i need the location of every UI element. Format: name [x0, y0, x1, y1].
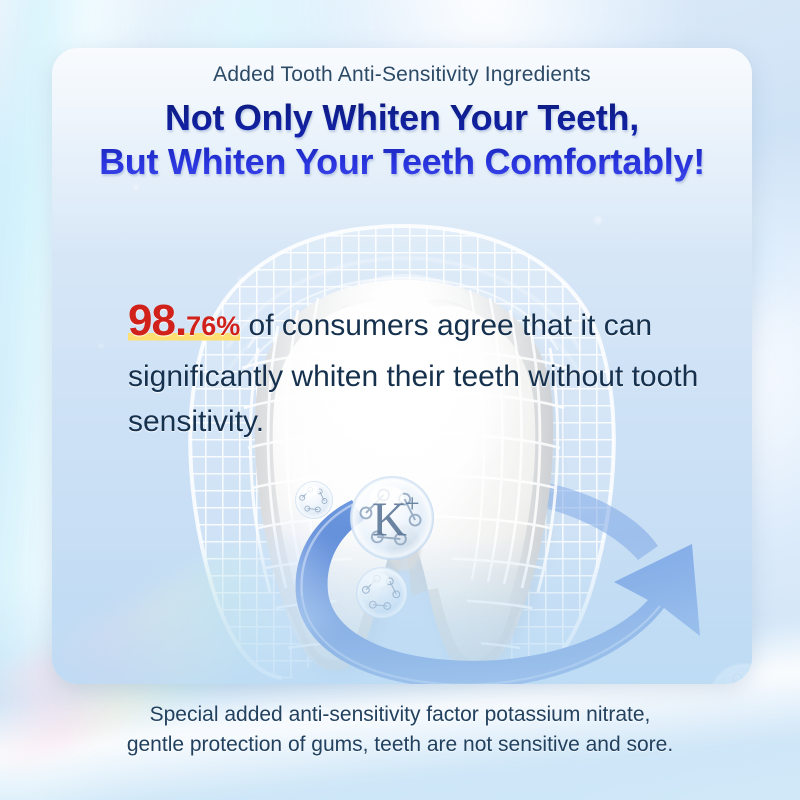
- bubble-k-right-bottom: K+: [707, 662, 752, 684]
- bubble-k-large: K+: [350, 476, 434, 560]
- blue-swoosh-arrow-back: [352, 474, 658, 560]
- svg-text:K: K: [727, 678, 752, 684]
- page-title: Not Only Whiten Your Teeth, But Whiten Y…: [52, 96, 752, 184]
- bubble-small-lower: [356, 567, 408, 619]
- bubble-small-upper: [295, 481, 333, 519]
- footer-caption: Special added anti-sensitivity factor po…: [0, 700, 800, 760]
- stat-percent-decimal: 76%: [186, 311, 240, 341]
- stat-highlight: 98.76%: [128, 309, 240, 344]
- svg-text:K: K: [372, 494, 407, 547]
- blue-swoosh-arrow: [296, 500, 700, 684]
- k-plus-bubble-group: K+K+K+: [295, 425, 752, 684]
- content-card: K+K+K+ Added Tooth Anti-Sensitivity Ingr…: [52, 48, 752, 684]
- stat-paragraph: 98.76% of consumers agree that it can si…: [128, 288, 728, 444]
- poster-canvas: K+K+K+ Added Tooth Anti-Sensitivity Ingr…: [0, 0, 800, 800]
- svg-text:+: +: [405, 489, 420, 518]
- stat-percent-integer: 98.: [128, 296, 186, 345]
- card-eyebrow-text: Added Tooth Anti-Sensitivity Ingredients: [52, 63, 752, 87]
- card-prism-streak: [52, 513, 359, 684]
- wireframe-mesh: [162, 208, 652, 684]
- card-bottom-glow: [52, 534, 752, 684]
